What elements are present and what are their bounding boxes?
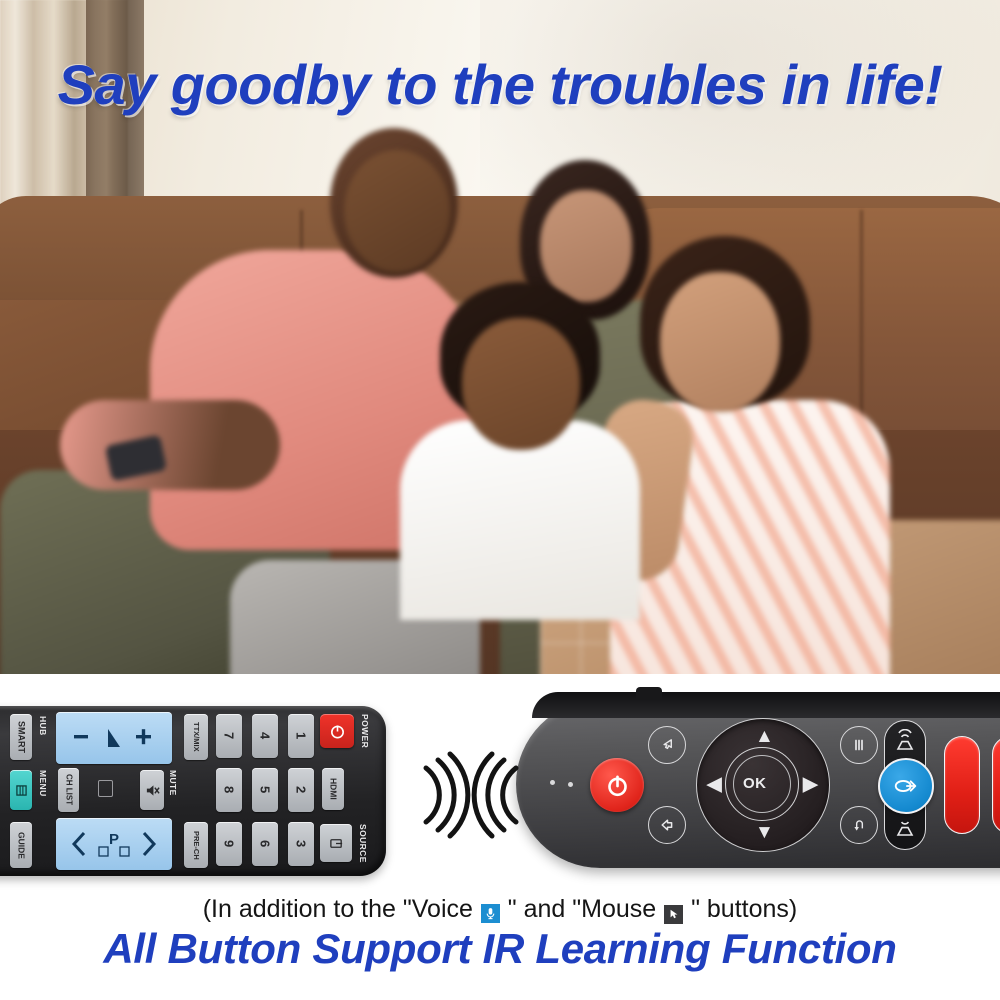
svg-text:P: P <box>109 831 119 848</box>
air-mouse-remote[interactable]: OK ▲ ▼ ◀ ▶ <box>516 700 1000 868</box>
num-key-4[interactable]: 4 <box>252 714 278 758</box>
chevron-up-icon[interactable]: ▲ <box>755 727 774 746</box>
voice-badge <box>481 904 500 923</box>
smart-key[interactable]: SMART <box>10 714 32 760</box>
ch-list-key[interactable]: CH LIST <box>58 768 79 812</box>
menu-button[interactable] <box>840 726 878 764</box>
person-father-face <box>344 150 450 272</box>
menu-label: MENU <box>38 770 48 797</box>
num-key-7[interactable]: 7 <box>216 714 242 758</box>
person-mother-face <box>540 190 632 302</box>
hdmi-key[interactable]: HDMI <box>322 768 344 810</box>
headline-text: Say goodby to the troubles in life! <box>0 52 1000 117</box>
person-girl-face <box>660 272 780 412</box>
channel-rocker[interactable]: P <box>56 818 172 870</box>
menu-icon <box>16 785 27 796</box>
source-label: SOURCE <box>358 824 368 863</box>
person-father-arm <box>60 400 280 490</box>
caption-line: (In addition to the "Voice " and "Mouse … <box>0 895 1000 924</box>
num-key-3[interactable]: 3 <box>288 822 314 866</box>
caption-suffix: " buttons) <box>684 895 797 923</box>
volume-rocker-icon <box>68 723 160 753</box>
person-boy-face <box>462 318 580 450</box>
power-button[interactable] <box>590 758 644 812</box>
ir-led-1 <box>550 780 555 785</box>
volume-rocker[interactable] <box>56 712 172 764</box>
return-arrow-icon <box>851 817 868 834</box>
home-button[interactable] <box>840 806 878 844</box>
mute-label: MUTE <box>168 770 178 796</box>
mouse-cursor-icon <box>659 737 676 754</box>
power-icon <box>605 773 630 798</box>
volume-up-icon <box>892 729 918 753</box>
subline-text: All Button Support IR Learning Function <box>0 925 1000 973</box>
back-arrow-icon <box>658 816 676 834</box>
ir-led-2 <box>568 782 573 787</box>
menu-key[interactable] <box>10 770 32 810</box>
ir-arc-left-1 <box>503 768 516 822</box>
air-remote-top-edge <box>532 692 1000 718</box>
air-remote-nub <box>636 687 662 699</box>
person-boy-shirt <box>400 420 640 620</box>
voice-mic-icon <box>892 776 920 796</box>
num-key-2[interactable]: 2 <box>288 768 314 812</box>
menu-bars-icon <box>851 738 867 752</box>
chevron-down-icon[interactable]: ▼ <box>755 823 774 842</box>
num-key-5[interactable]: 5 <box>252 768 278 812</box>
power-icon <box>329 723 346 740</box>
mouse-button[interactable] <box>648 726 686 764</box>
num-key-8[interactable]: 8 <box>216 768 242 812</box>
mouse-cursor-icon <box>668 908 680 920</box>
num-key-1[interactable]: 1 <box>288 714 314 758</box>
ok-button[interactable]: OK <box>743 775 767 792</box>
source-key[interactable] <box>320 824 352 862</box>
back-button[interactable] <box>648 806 686 844</box>
mute-key[interactable] <box>140 770 164 810</box>
channel-rocker-icon: P <box>66 827 162 861</box>
hub-label: HUB <box>38 716 48 736</box>
ttx-mix-key[interactable]: TTX/MIX <box>184 714 208 760</box>
ir-learning-key-1[interactable] <box>944 736 980 834</box>
volume-down-icon <box>892 817 918 839</box>
mouse-badge <box>664 905 683 924</box>
source-icon <box>329 836 344 851</box>
mute-icon <box>145 783 160 798</box>
caption-prefix: (In addition to the "Voice <box>203 895 480 923</box>
caption-middle: " and "Mouse <box>501 895 663 923</box>
num-key-9[interactable]: 9 <box>216 822 242 866</box>
chevron-right-icon[interactable]: ▶ <box>803 775 818 794</box>
num-key-6[interactable]: 6 <box>252 822 278 866</box>
guide-key[interactable]: GUIDE <box>10 822 32 868</box>
ir-arc-right-1 <box>426 768 439 822</box>
pre-ch-key[interactable]: PRE-CH <box>184 822 208 868</box>
chevron-left-icon[interactable]: ◀ <box>707 775 722 794</box>
dpad[interactable]: OK ▲ ▼ ◀ ▶ <box>696 718 830 852</box>
info-key[interactable] <box>98 780 113 797</box>
microphone-icon <box>485 907 496 920</box>
voice-button[interactable] <box>878 758 934 814</box>
ir-learning-key-2[interactable] <box>992 736 1000 834</box>
power-key[interactable] <box>320 714 354 748</box>
power-label: POWER <box>360 714 370 748</box>
tv-remote[interactable]: SMART HUB MENU CH LIST GUIDE P <box>0 706 386 876</box>
